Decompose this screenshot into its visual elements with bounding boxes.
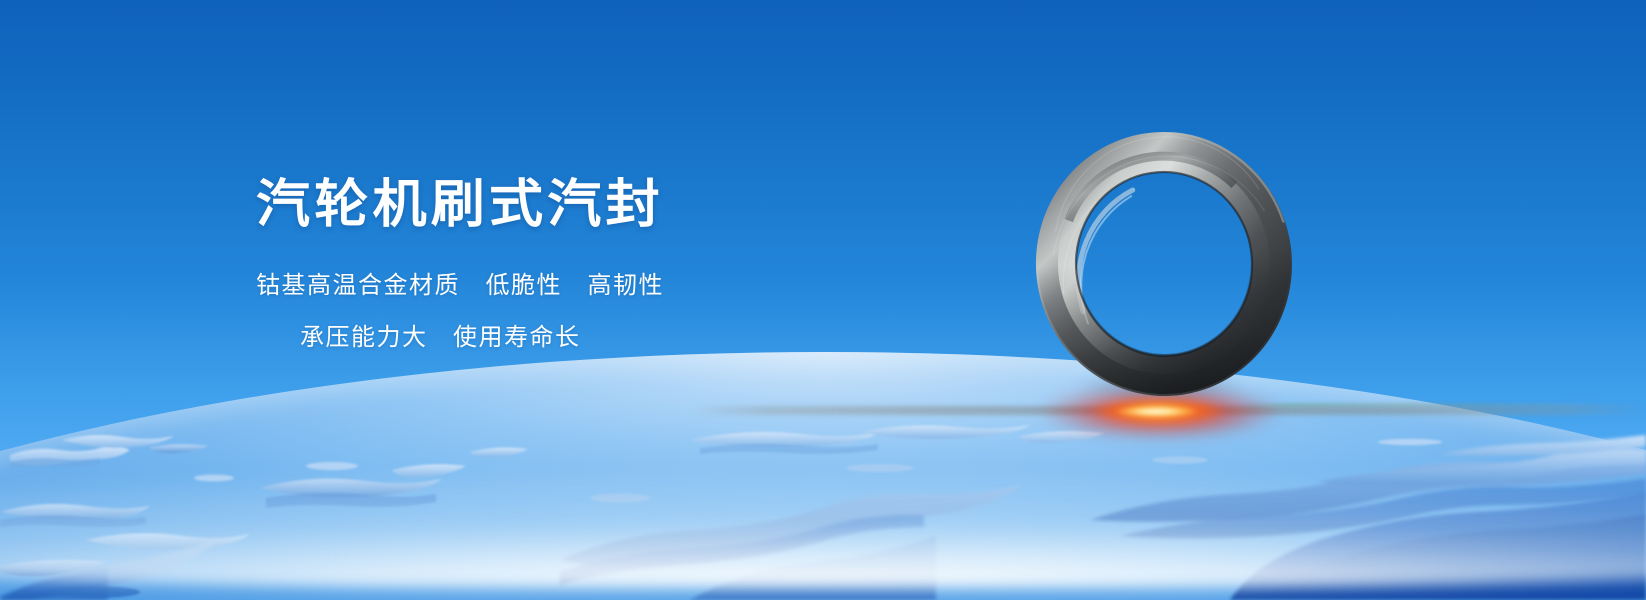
hot-glow-core	[1108, 406, 1204, 417]
text-block: 汽轮机刷式汽封 钴基高温合金材质 低脆性 高韧性 承压能力大 使用寿命长	[256, 176, 896, 352]
subtitle-line-1: 钴基高温合金材质 低脆性 高韧性	[256, 270, 896, 300]
ring-body	[1023, 123, 1305, 409]
subtitle-line-2: 承压能力大 使用寿命长	[300, 322, 896, 352]
page-title: 汽轮机刷式汽封	[256, 176, 922, 234]
brush-seal-ring-icon	[1023, 119, 1305, 409]
globe-terminator	[0, 352, 1646, 600]
earth-globe	[0, 352, 1646, 600]
product-banner: 汽轮机刷式汽封 钴基高温合金材质 低脆性 高韧性 承压能力大 使用寿命长	[0, 0, 1646, 600]
